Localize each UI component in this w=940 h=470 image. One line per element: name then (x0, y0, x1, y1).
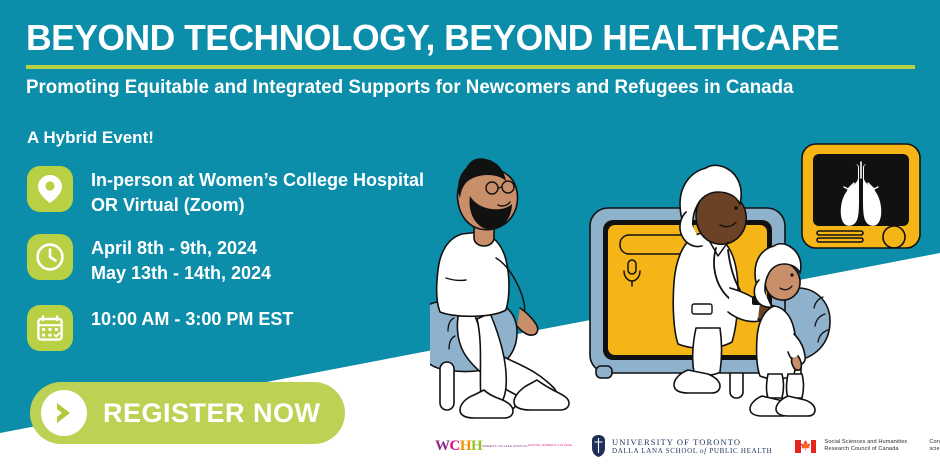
location-pin-icon (27, 166, 73, 212)
chevron-right-icon (41, 390, 87, 436)
register-now-button[interactable]: REGISTER NOW (30, 382, 345, 444)
dates-text: April 8th - 9th, 2024 May 13th - 14th, 2… (91, 234, 271, 286)
dates-line-1: April 8th - 9th, 2024 (91, 236, 271, 261)
hybrid-event-label: A Hybrid Event! (27, 128, 154, 148)
uoft-line-2b: of (700, 447, 707, 455)
event-banner: BEYOND TECHNOLOGY, BEYOND HEALTHCARE Pro… (0, 0, 940, 470)
wch-letter-h2: H (471, 438, 482, 454)
xray-monitor-icon (802, 144, 920, 248)
register-now-label: REGISTER NOW (103, 398, 321, 429)
page-subtitle: Promoting Equitable and Integrated Suppo… (26, 76, 903, 100)
dates-line-2: May 13th - 14th, 2024 (91, 261, 271, 286)
time-line-1: 10:00 AM - 3:00 PM EST (91, 307, 293, 332)
sshrc-text-fr: Conseil de recherches en sciences humain… (929, 439, 940, 454)
time-text: 10:00 AM - 3:00 PM EST (91, 305, 293, 332)
sshrc-logo: 🍁 Social Sciences and Humanities Researc… (794, 439, 940, 454)
uoft-crest-icon (590, 434, 607, 458)
title-divider (26, 65, 915, 69)
university-of-toronto-dalla-lana-logo: UNIVERSITY OF TORONTO DALLA LANA SCHOOL … (590, 434, 772, 458)
telehealth-consultation-illustration (430, 138, 940, 433)
wch-subtext-fr: HOPITAL WOMEN'S COLLEGE (528, 444, 572, 448)
sponsor-logo-strip: WCHH WOMEN'S COLLEGE HOSPITAL HOPITAL WO… (430, 428, 930, 464)
sshrc-en-line-2: Research Council of Canada (824, 446, 907, 454)
uoft-line-2a: DALLA LANA SCHOOL (612, 447, 700, 455)
info-row-time: 10:00 AM - 3:00 PM EST (27, 305, 293, 351)
wch-letter-c: C (450, 438, 460, 454)
wch-letter-h1: H (460, 438, 471, 454)
sshrc-text-en: Social Sciences and Humanities Research … (824, 439, 907, 454)
wch-letter-w: W (435, 438, 450, 454)
info-row-location: In-person at Women’s College Hospital OR… (27, 166, 424, 218)
location-line-1: In-person at Women’s College Hospital (91, 168, 424, 193)
uoft-wordmark: UNIVERSITY OF TORONTO DALLA LANA SCHOOL … (612, 437, 772, 456)
sshrc-en-line-1: Social Sciences and Humanities (824, 439, 907, 447)
sshrc-fr-line-1: Conseil de recherches en (929, 439, 940, 447)
location-line-2: OR Virtual (Zoom) (91, 193, 424, 218)
maple-leaf-glyph: 🍁 (800, 442, 811, 451)
info-row-dates: April 8th - 9th, 2024 May 13th - 14th, 2… (27, 234, 271, 286)
womens-college-hospital-logo: WCHH WOMEN'S COLLEGE HOSPITAL HOPITAL WO… (435, 439, 572, 454)
uoft-line-1: UNIVERSITY OF TORONTO (612, 437, 772, 447)
wch-subtext-en: WOMEN'S COLLEGE HOSPITAL (482, 445, 528, 449)
calendar-icon (27, 305, 73, 351)
uoft-line-2c: PUBLIC HEALTH (707, 447, 773, 455)
canadian-flag-icon: 🍁 (794, 439, 817, 454)
uoft-line-2: DALLA LANA SCHOOL of PUBLIC HEALTH (612, 447, 772, 456)
bearded-man-figure (437, 158, 569, 418)
location-text: In-person at Women’s College Hospital OR… (91, 166, 424, 218)
page-title: BEYOND TECHNOLOGY, BEYOND HEALTHCARE (26, 18, 903, 58)
sshrc-fr-line-2: sciences humaines du Canada (929, 446, 940, 454)
clock-icon (27, 234, 73, 280)
wch-wordmark: WCHH (435, 439, 482, 454)
